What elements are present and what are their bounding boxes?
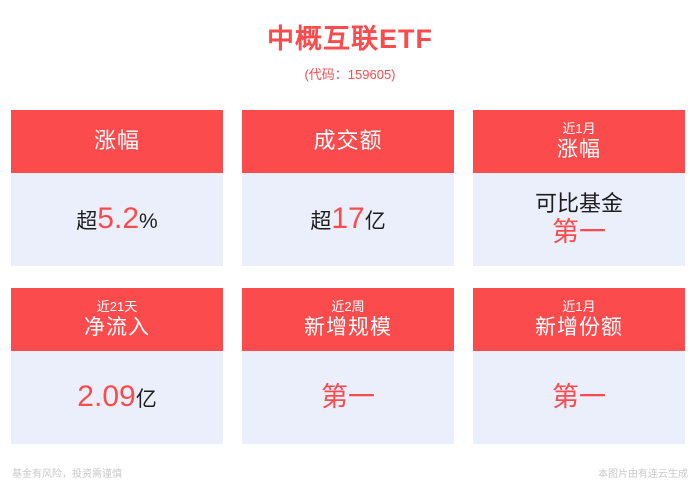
- metric-value: 第一: [321, 382, 375, 413]
- metric-card-header: 近1月新增份额: [473, 288, 685, 351]
- metric-name-label: 净流入: [84, 315, 150, 341]
- metric-card: 近1月新增份额第一: [473, 288, 685, 444]
- metric-card-header: 涨幅: [11, 110, 223, 173]
- metric-value: 2.09亿: [77, 380, 156, 415]
- metric-value-part: 17: [331, 202, 364, 235]
- metric-value-part: 5.2: [97, 202, 139, 235]
- metric-card-body: 可比基金第一: [473, 173, 685, 266]
- metric-card-header: 近1月涨幅: [473, 110, 685, 173]
- metric-card-body: 2.09亿: [11, 351, 223, 444]
- metric-name-label: 成交额: [313, 127, 382, 155]
- metric-period-label: 近1月: [562, 298, 595, 315]
- metric-card-grid: 涨幅超5.2%成交额超17亿近1月涨幅可比基金第一近21天净流入2.09亿近2周…: [11, 110, 689, 444]
- metric-value-part: 第一: [552, 382, 606, 412]
- metric-value-part: 亿: [365, 210, 386, 233]
- page-footer: 基金有风险，投资需谨慎 本图片由有连云生成: [0, 468, 700, 482]
- metric-card-header: 成交额: [242, 110, 454, 173]
- metric-value-part: 亿: [136, 388, 157, 411]
- metric-name-label: 涨幅: [557, 137, 601, 163]
- metric-card-header: 近2周新增规模: [242, 288, 454, 351]
- risk-disclaimer: 基金有风险，投资需谨慎: [12, 468, 122, 482]
- metric-value: 超17亿: [310, 202, 385, 237]
- metric-value: 第一: [552, 217, 606, 248]
- metric-card-header: 近21天净流入: [11, 288, 223, 351]
- page-header: 中概互联ETF (代码：159605): [0, 0, 700, 84]
- metric-value: 第一: [552, 382, 606, 413]
- metric-value-part: 第一: [321, 382, 375, 412]
- infographic-page: 中概互联ETF (代码：159605) 涨幅超5.2%成交额超17亿近1月涨幅可…: [0, 0, 700, 501]
- metric-name-label: 涨幅: [94, 127, 140, 155]
- metric-value-part: 第一: [552, 217, 606, 247]
- metric-card: 近2周新增规模第一: [242, 288, 454, 444]
- metric-card: 近21天净流入2.09亿: [11, 288, 223, 444]
- metric-value-part: 超: [76, 210, 97, 233]
- metric-period-label: 近2周: [331, 298, 364, 315]
- metric-value-part: 超: [310, 210, 331, 233]
- metric-period-label: 近1月: [562, 120, 595, 137]
- metric-period-label: 近21天: [97, 298, 137, 315]
- metric-card: 近1月涨幅可比基金第一: [473, 110, 685, 266]
- fund-code-label: (代码：159605): [0, 66, 700, 84]
- metric-value-part: %: [139, 210, 158, 233]
- metric-card-body: 第一: [473, 351, 685, 444]
- metric-value: 超5.2%: [76, 202, 157, 237]
- metric-card: 成交额超17亿: [242, 110, 454, 266]
- metric-name-label: 新增份额: [535, 315, 623, 341]
- metric-card-body: 第一: [242, 351, 454, 444]
- metric-card-body: 超17亿: [242, 173, 454, 266]
- metric-name-label: 新增规模: [304, 315, 392, 341]
- metric-value-qualifier: 可比基金: [535, 191, 623, 216]
- metric-value-part: 2.09: [77, 380, 135, 413]
- page-title: 中概互联ETF: [0, 22, 700, 56]
- metric-card: 涨幅超5.2%: [11, 110, 223, 266]
- image-attribution: 本图片由有连云生成: [598, 468, 688, 482]
- metric-card-body: 超5.2%: [11, 173, 223, 266]
